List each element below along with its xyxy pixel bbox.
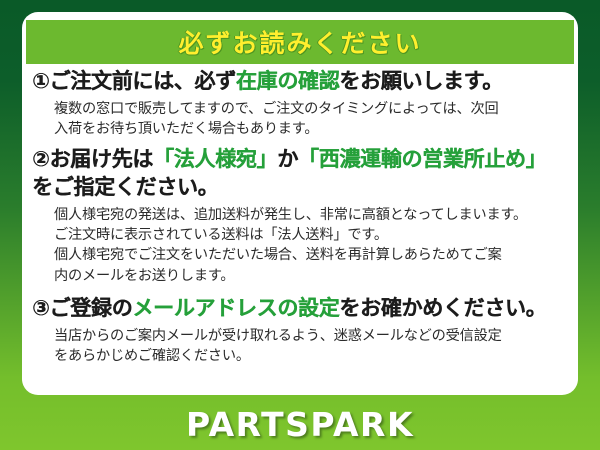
notice-item-1-subline-2: 入荷をお待ち頂いただく場合もあります。 bbox=[54, 119, 570, 139]
notice-item-3-heading: ③ご登録のメールアドレスの設定をお確かめください。 bbox=[32, 295, 570, 323]
notice-item-2-head-middle: か bbox=[277, 147, 298, 171]
notice-item-1-highlight: 在庫の確認 bbox=[236, 69, 340, 93]
notice-item-1-heading: ①ご注文前には、必ず在庫の確認をお願いします。 bbox=[32, 68, 570, 96]
notice-item-2: ②お届け先は「法人様宛」か「西濃運輸の営業所止め」をご指定ください。 個人様宅宛… bbox=[32, 146, 570, 286]
notice-item-1-head-part2: をお願いします。 bbox=[339, 69, 503, 93]
footer-bar: PARTSPARK bbox=[0, 398, 600, 450]
notice-item-3-highlight: メールアドレスの設定 bbox=[132, 296, 339, 320]
notice-poster: 必ずお読みください ①ご注文前には、必ず在庫の確認をお願いします。 複数の窓口で… bbox=[0, 0, 600, 450]
notice-item-2-marker: ② bbox=[32, 147, 49, 171]
notice-item-2-subline-3: 個人様宅宛でご注文をいただいた場合、送料を再計算しあらためてご案 bbox=[54, 245, 570, 265]
notice-item-3-head-part2: をお確かめください。 bbox=[339, 296, 546, 320]
notice-item-2-subtext: 個人様宅宛の発送は、追加送料が発生し、非常に高額となってしまいます。 ご注文時に… bbox=[32, 205, 570, 286]
notice-item-3-subline-2: をあらかじめご確認ください。 bbox=[54, 346, 570, 366]
header-band: 必ずお読みください bbox=[26, 20, 574, 64]
notice-item-1-subtext: 複数の窓口で販売してますので、ご注文のタイミングによっては、次回 入荷をお待ち頂… bbox=[32, 99, 570, 140]
notice-item-1-subline-1: 複数の窓口で販売してますので、ご注文のタイミングによっては、次回 bbox=[54, 99, 570, 119]
notice-item-2-subline-2: ご注文時に表示されている送料は「法人送料」です。 bbox=[54, 225, 570, 245]
notice-card: 必ずお読みください ①ご注文前には、必ず在庫の確認をお願いします。 複数の窓口で… bbox=[22, 12, 578, 395]
notice-item-2-head-part1: お届け先は bbox=[49, 147, 153, 171]
notice-item-3: ③ご登録のメールアドレスの設定をお確かめください。 当店からのご案内メールが受け… bbox=[32, 295, 570, 366]
notice-item-2-subline-4: 内のメールをお送りします。 bbox=[54, 266, 570, 286]
page-title: 必ずお読みください bbox=[178, 24, 421, 60]
notice-item-3-marker: ③ bbox=[32, 296, 49, 320]
brand-logo-text: PARTSPARK bbox=[186, 405, 414, 444]
notice-item-1: ①ご注文前には、必ず在庫の確認をお願いします。 複数の窓口で販売してますので、ご… bbox=[32, 68, 570, 139]
notice-item-2-head-part2: をご指定ください。 bbox=[32, 175, 218, 199]
notice-item-2-heading: ②お届け先は「法人様宛」か「西濃運輸の営業所止め」をご指定ください。 bbox=[32, 146, 570, 201]
notice-body: ①ご注文前には、必ず在庫の確認をお願いします。 複数の窓口で販売してますので、ご… bbox=[22, 68, 578, 368]
notice-item-2-highlight-2: 「西濃運輸の営業所止め」 bbox=[298, 147, 546, 171]
notice-item-3-subline-1: 当店からのご案内メールが受け取れるよう、迷惑メールなどの受信設定 bbox=[54, 326, 570, 346]
notice-item-1-head-part1: ご注文前には、必ず bbox=[49, 69, 235, 93]
notice-item-1-marker: ① bbox=[32, 69, 49, 93]
notice-item-2-subline-1: 個人様宅宛の発送は、追加送料が発生し、非常に高額となってしまいます。 bbox=[54, 205, 570, 225]
notice-item-3-subtext: 当店からのご案内メールが受け取れるよう、迷惑メールなどの受信設定 をあらかじめご… bbox=[32, 326, 570, 367]
notice-item-3-head-part1: ご登録の bbox=[49, 296, 132, 320]
notice-item-2-highlight-1: 「法人様宛」 bbox=[153, 147, 277, 171]
